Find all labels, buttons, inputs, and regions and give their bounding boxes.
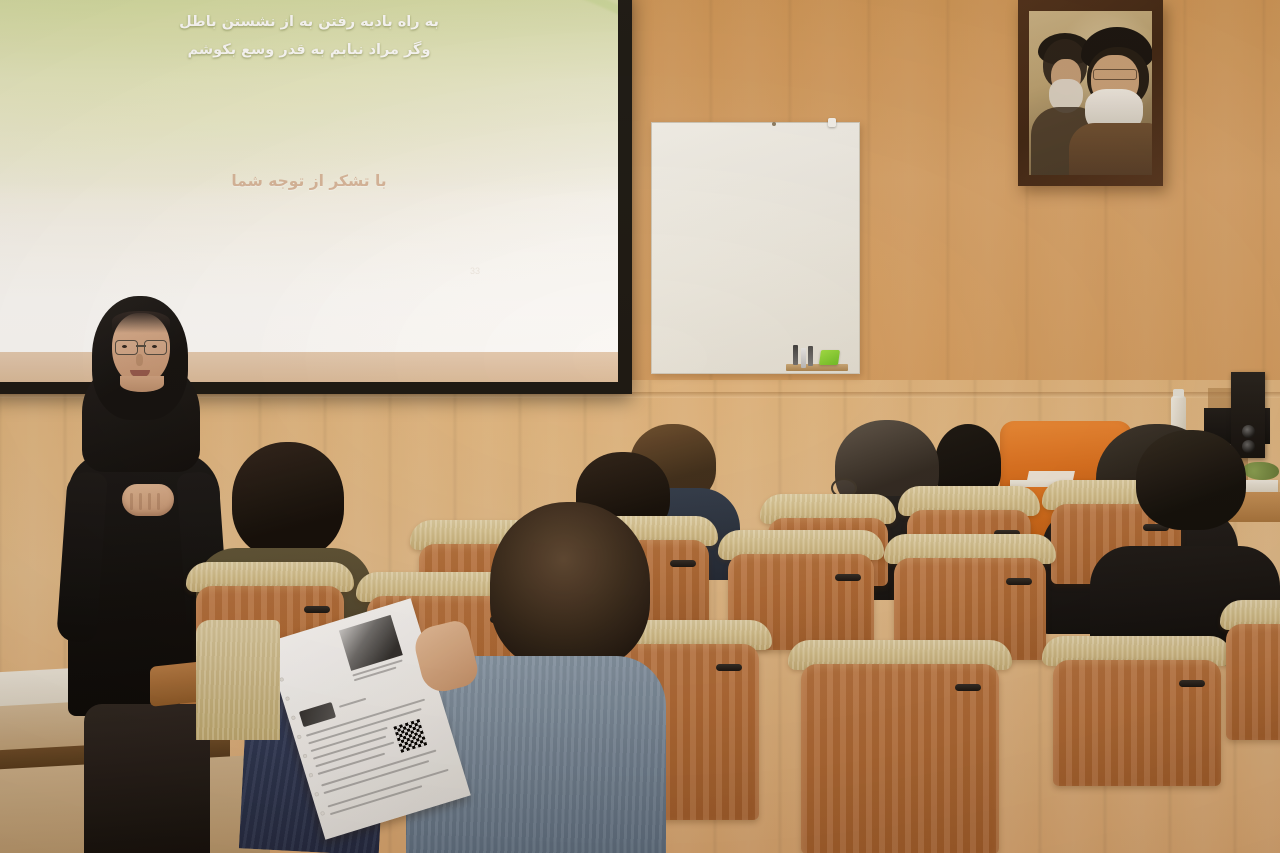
flyer-logo [299,702,336,727]
presenter-glasses-lens-left [115,340,138,355]
flyer-punch-hole-7 [308,773,313,778]
flyer-qr-code [393,719,427,753]
seat-handle-slot [670,560,696,567]
whiteboard-eraser [819,350,840,365]
seat-mid-6[interactable] [1220,600,1280,740]
presenter-eye-left [122,345,127,348]
presenter-finger-2 [139,493,142,510]
seat-handle-slot [1006,578,1032,585]
attendee-1-head [232,442,344,558]
portrait-image [1029,11,1152,175]
seat-handle-slot [716,664,742,671]
marker-dark-icon [808,346,813,366]
presenter-finger-3 [148,493,151,510]
whiteboard [651,122,860,374]
flyer-punch-hole-6 [303,754,308,759]
presenter-glasses-icon [115,340,167,353]
attendee-5-head [1136,430,1246,530]
whiteboard-pin [772,122,776,126]
seat-mid-5[interactable] [1042,636,1232,786]
whiteboard-marker-tray [786,364,848,371]
seat-front-4[interactable] [788,640,1012,853]
seat-back-panel [1226,624,1280,740]
presenter-finger-1 [130,493,133,510]
presenter-nose [136,354,143,366]
seat-pad-foreground [196,620,280,740]
seat-back-panel [1053,660,1220,786]
marker-black-icon [793,345,798,365]
presenter-finger-4 [157,493,160,510]
presenter-hairline [112,311,170,333]
seat-handle-slot [304,606,330,613]
speaker-driver-upper-icon [1242,425,1255,438]
slide-poem-line-2: وگر مراد نیابم به قدر وسع بکوشم [0,36,618,64]
flyer-punch-hole-9 [320,811,325,816]
paper-sheet-on-table [1027,471,1075,480]
seat-handle-slot [835,574,861,581]
flyer-punch-hole-4 [291,715,296,720]
framed-portrait [1018,0,1163,186]
flyer-punch-hole-8 [314,792,319,797]
presenter-eye-right [152,345,157,348]
slide-poem-line-1: به راه بادیه رفتن به از نشستن باطل [0,8,618,36]
flyer-punch-hole-3 [285,696,290,701]
portrait-front-figure-glasses [1093,69,1137,80]
whiteboard-clip [828,118,836,127]
slide-poem-text: به راه بادیه رفتن به از نشستن باطل وگر م… [0,8,618,65]
speaker-driver-lower-icon [1242,440,1255,453]
marker-white-icon [801,348,806,368]
slide-closing-text: با تشکر از توجه شما [0,172,618,190]
seat-armrest-foreground [84,704,210,853]
seat-handle-slot [1179,680,1205,687]
seat-handle-slot [955,684,981,691]
portrait-front-figure-body [1069,123,1152,175]
slide-number: 33 [470,266,480,276]
presenter-glasses-bridge [136,345,146,347]
flyer-punch-hole-5 [297,734,302,739]
photograph-scene: به راه بادیه رفتن به از نشستن باطل وگر م… [0,0,1280,853]
attendee-2-head [490,502,650,670]
presenter-chin [120,376,164,392]
flyer-masthead-rule [339,698,366,708]
plant-greenery [1243,462,1279,480]
seat-back-panel [801,664,998,853]
presenter-hands-clasped [122,484,174,516]
flyer-text-line-9 [328,769,449,808]
